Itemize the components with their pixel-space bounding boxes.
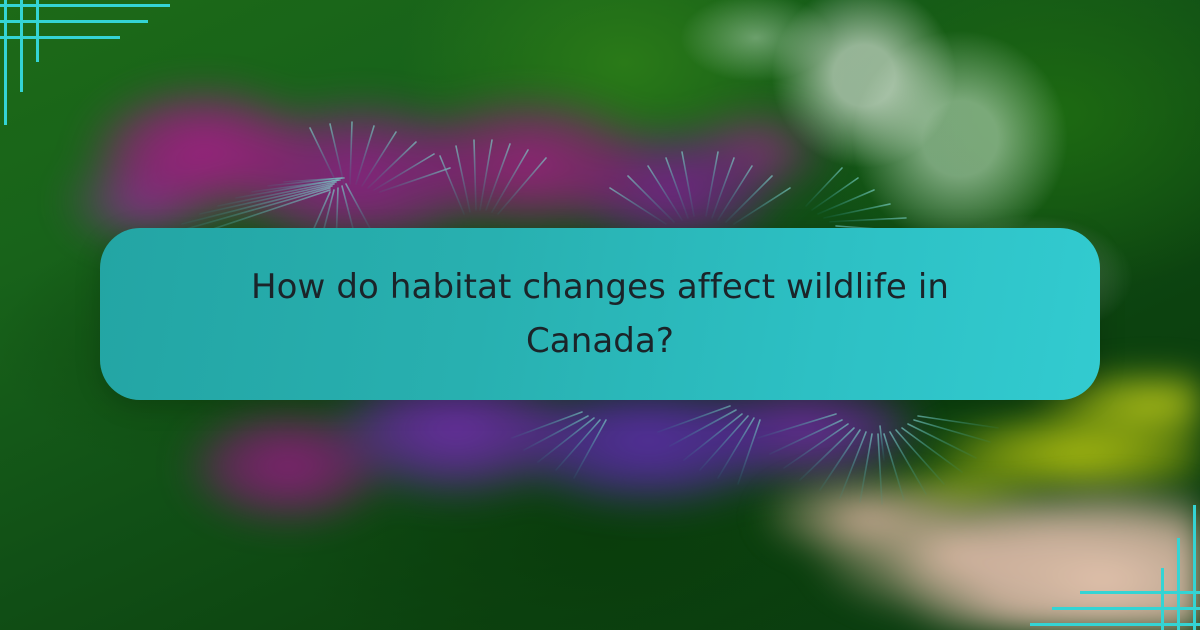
- corner-line-v1: [4, 0, 7, 125]
- corner-line-v2: [1177, 538, 1180, 630]
- corner-line-h1: [0, 4, 170, 7]
- corner-line-h1: [1030, 623, 1200, 626]
- corner-line-h3: [1080, 591, 1200, 594]
- corner-line-v2: [20, 0, 23, 92]
- question-card[interactable]: How do habitat changes affect wildlife i…: [100, 228, 1100, 400]
- question-text: How do habitat changes affect wildlife i…: [250, 260, 950, 369]
- corner-line-v3: [36, 0, 39, 62]
- corner-frame-top-left: [0, 0, 190, 140]
- corner-line-h3: [0, 36, 120, 39]
- share-card-canvas: How do habitat changes affect wildlife i…: [0, 0, 1200, 630]
- corner-line-v3: [1161, 568, 1164, 630]
- corner-line-v1: [1193, 505, 1196, 630]
- corner-frame-bottom-right: [1010, 490, 1200, 630]
